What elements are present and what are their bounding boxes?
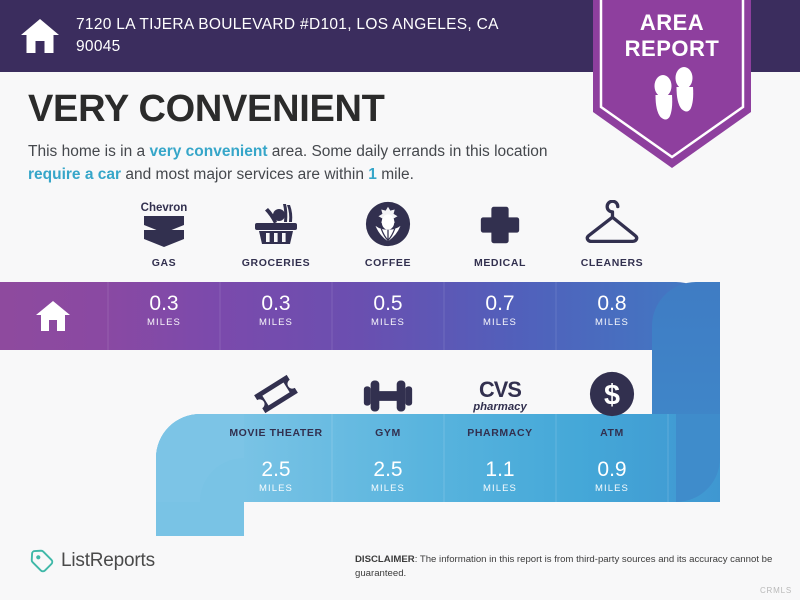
disclaimer: DISCLAIMER: The information in this repo… [355, 553, 775, 580]
badge-line-2: REPORT [589, 36, 755, 62]
amenity-movie-theater: MOVIE THEATER [220, 368, 332, 439]
chevron-gas-logo-icon: Chevron [137, 198, 191, 248]
home-icon [18, 16, 62, 56]
page-title: VERY CONVENIENT [28, 88, 385, 131]
amenity-label: COFFEE [365, 257, 411, 269]
amenity-atm: $ ATM [556, 368, 668, 439]
badge-label: AREA REPORT [589, 10, 755, 62]
svg-text:CVS: CVS [479, 377, 521, 402]
amenity-label: GROCERIES [242, 257, 310, 269]
listreports-wordmark: ListReports [61, 550, 155, 572]
disclaimer-text: : The information in this report is from… [355, 554, 772, 579]
badge-line-1: AREA [589, 10, 755, 36]
desc-highlight-car: require a car [28, 166, 121, 183]
starbucks-coffee-icon [364, 198, 412, 248]
desc-part-3: and most major services are within [121, 166, 368, 183]
property-address: 7120 LA TIJERA BOULEVARD #D101, LOS ANGE… [76, 14, 531, 58]
svg-text:pharmacy: pharmacy [472, 401, 527, 413]
dumbbell-icon [360, 368, 416, 418]
desc-highlight-miles: 1 [368, 166, 377, 183]
amenity-cleaners: CLEANERS [556, 198, 668, 269]
dollar-circle-icon: $ [588, 368, 636, 418]
amenity-label: MOVIE THEATER [229, 427, 322, 439]
amenity-gas: Chevron GAS [108, 198, 220, 269]
movie-ticket-icon [251, 368, 301, 418]
desc-part-4: mile. [377, 166, 414, 183]
amenity-coffee: COFFEE [332, 198, 444, 269]
amenity-label: CLEANERS [581, 257, 644, 269]
desc-highlight-convenience: very convenient [149, 143, 267, 160]
amenity-medical: MEDICAL [444, 198, 556, 269]
svg-text:$: $ [604, 380, 620, 412]
listreports-logo: ListReports [30, 549, 155, 573]
disclaimer-label: DISCLAIMER [355, 554, 415, 565]
amenity-row-2: MOVIE THEATER GYM CVS [220, 368, 668, 439]
listreports-pentagon-icon [30, 549, 54, 573]
page-description: This home is in a very convenient area. … [28, 140, 573, 186]
amenity-pharmacy: CVS pharmacy PHARMACY [444, 368, 556, 439]
bar-home-icon [34, 299, 72, 333]
clothes-hanger-icon [583, 198, 641, 248]
area-report-page: 7120 LA TIJERA BOULEVARD #D101, LOS ANGE… [0, 0, 800, 600]
crmls-watermark: CRMLS [760, 586, 792, 595]
amenity-label: GYM [375, 427, 401, 439]
area-report-badge: AREA REPORT [589, 0, 755, 172]
amenity-groceries: GROCERIES [220, 198, 332, 269]
amenity-label: PHARMACY [467, 427, 532, 439]
amenity-label: GAS [152, 257, 177, 269]
grocery-basket-icon [248, 198, 304, 248]
svg-text:Chevron: Chevron [141, 202, 188, 214]
amenity-gym: GYM [332, 368, 444, 439]
amenity-label: MEDICAL [474, 257, 526, 269]
amenity-label: ATM [600, 427, 624, 439]
medical-cross-icon [477, 198, 523, 248]
cvs-pharmacy-icon: CVS pharmacy [465, 368, 535, 418]
amenity-row-1: Chevron GAS [108, 198, 668, 269]
desc-part-1: This home is in a [28, 143, 149, 160]
desc-part-2: area. Some daily errands in this locatio… [268, 143, 548, 160]
